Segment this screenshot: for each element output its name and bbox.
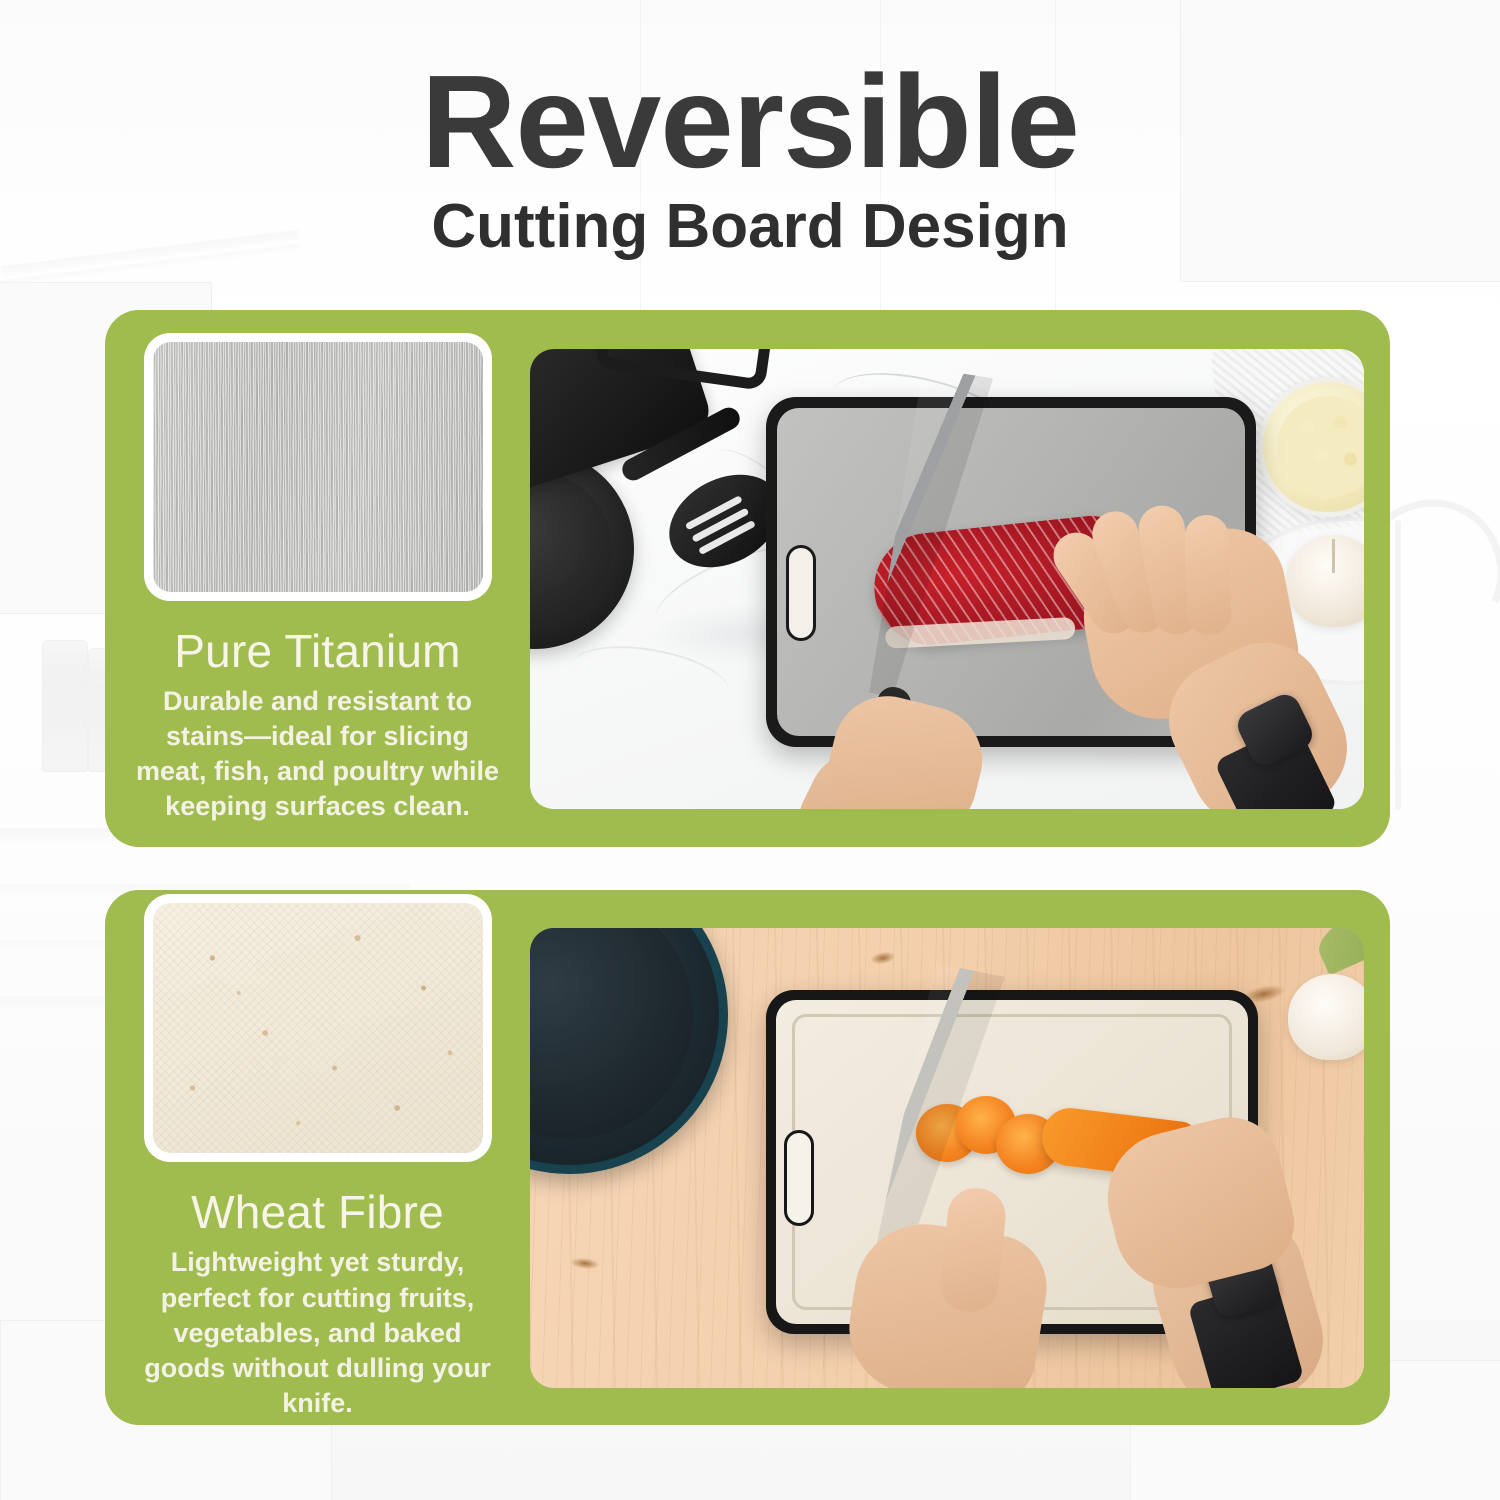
feature-panel-wheat-fibre: Wheat Fibre Lightweight yet sturdy, perf… — [105, 890, 1390, 1425]
salt-shaker — [42, 640, 88, 772]
panel-1-text-column: Pure Titanium Durable and resistant to s… — [105, 333, 530, 825]
feature-title-pure-titanium: Pure Titanium — [174, 627, 460, 675]
garlic-bulb — [1288, 974, 1364, 1060]
infographic-canvas: Reversible Cutting Board Design Pure Tit… — [0, 0, 1500, 1500]
feature-description-pure-titanium: Durable and resistant to stains—ideal fo… — [130, 684, 505, 824]
faucet-stem — [1395, 520, 1401, 810]
wheat-fibre-photo-frame — [530, 928, 1364, 1388]
board-handle-hole — [786, 545, 816, 641]
wheat-fibre-surface-swatch — [153, 903, 483, 1153]
wheat-fibre-swatch-frame — [144, 894, 492, 1162]
finger — [1184, 514, 1232, 635]
titanium-side-slicing-steak-photo — [530, 349, 1364, 809]
panel-2-text-column: Wheat Fibre Lightweight yet sturdy, perf… — [105, 894, 530, 1421]
feature-panel-pure-titanium: Pure Titanium Durable and resistant to s… — [105, 310, 1390, 847]
turner-handle — [594, 349, 773, 391]
board-handle-hole — [784, 1130, 814, 1226]
brushed-titanium-surface-swatch — [153, 342, 483, 592]
feature-title-wheat-fibre: Wheat Fibre — [191, 1188, 444, 1236]
page-title: Reversible — [0, 56, 1500, 188]
feature-description-wheat-fibre: Lightweight yet sturdy, perfect for cutt… — [130, 1245, 505, 1420]
titanium-swatch-frame — [144, 333, 492, 601]
wheat-fibre-side-slicing-carrot-photo — [530, 928, 1364, 1388]
page-subtitle: Cutting Board Design — [0, 196, 1500, 258]
titanium-photo-frame — [530, 349, 1364, 809]
